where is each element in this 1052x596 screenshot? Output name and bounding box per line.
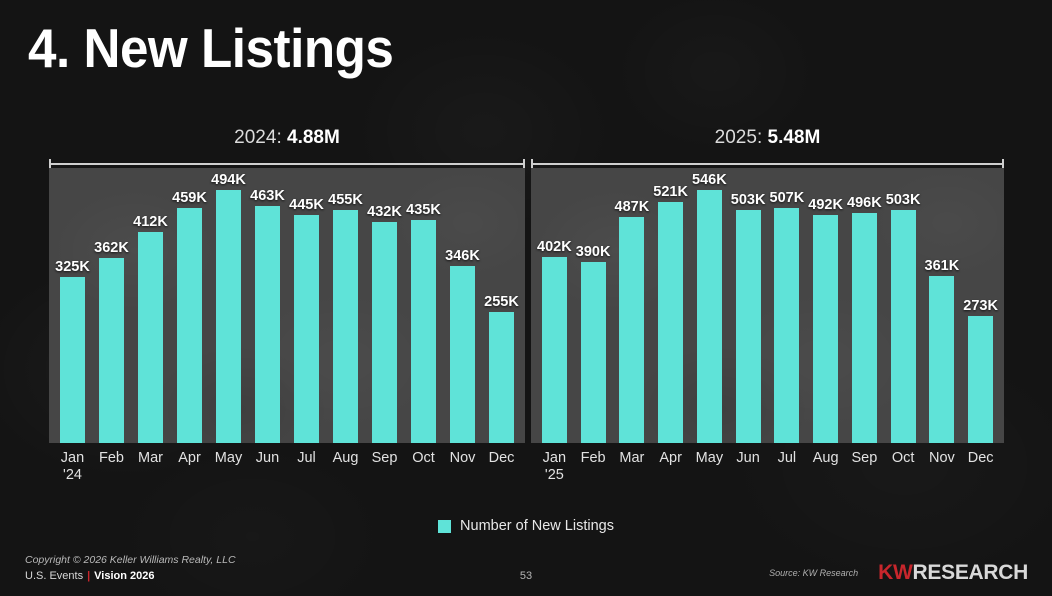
bar[interactable] [372, 222, 397, 443]
bar[interactable] [177, 208, 202, 443]
footer-right: Source: KW Research KWRESEARCH [769, 562, 1028, 583]
plot-area-2024: 325K362K412K459K494K463K445K455K432K435K… [49, 168, 525, 443]
bar-slot: 362K [92, 168, 131, 443]
x-axis-tick-label: Nov [923, 450, 962, 484]
bar[interactable] [891, 210, 916, 443]
bar-value-label: 487K [615, 199, 650, 215]
x-axis-tick-label: Feb [574, 450, 613, 484]
bar-slot: 435K [404, 168, 443, 443]
x-axis-2025: Jan'25FebMarAprMayJunJulAugSepOctNovDec [531, 450, 1004, 484]
x-axis-tick-label: Aug [806, 450, 845, 484]
x-axis-tick-label: Mar [613, 450, 652, 484]
bar[interactable] [450, 266, 475, 443]
bar-value-label: 494K [211, 172, 246, 188]
x-axis-tick-label: Mar [131, 450, 170, 484]
bar-value-label: 361K [925, 258, 960, 274]
bar-value-label: 325K [55, 259, 90, 275]
bar-slot: 492K [806, 168, 845, 443]
bar-value-label: 503K [731, 192, 766, 208]
x-axis-tick-label: Sep [845, 450, 884, 484]
chart-title-year-2025: 2025: [715, 127, 763, 148]
chart-title-total-2024: 4.88M [287, 127, 340, 148]
bar-slot: 412K [131, 168, 170, 443]
x-axis-tick-label: Nov [443, 450, 482, 484]
bar-value-label: 492K [808, 197, 843, 213]
bar[interactable] [542, 257, 567, 443]
bar-value-label: 432K [367, 204, 402, 220]
chart-title-total-2025: 5.48M [768, 127, 821, 148]
x-axis-tick-label: May [690, 450, 729, 484]
bar-value-label: 435K [406, 202, 441, 218]
x-axis-year-sublabel: '25 [535, 467, 574, 484]
x-axis-tick-label: Apr [170, 450, 209, 484]
bar-value-label: 273K [963, 298, 998, 314]
bar[interactable] [489, 312, 514, 443]
bar[interactable] [333, 210, 358, 443]
logo-kw-text: KW [878, 561, 912, 584]
bar[interactable] [294, 215, 319, 443]
page-title: 4. New Listings [28, 21, 393, 76]
bar-value-label: 390K [576, 244, 611, 260]
bar[interactable] [774, 208, 799, 443]
x-axis-tick-label: Apr [651, 450, 690, 484]
bar-slot: 496K [845, 168, 884, 443]
bar-slot: 325K [53, 168, 92, 443]
bar-value-label: 521K [653, 184, 688, 200]
bar-slot: 507K [768, 168, 807, 443]
bar-slot: 503K [884, 168, 923, 443]
bar-slot: 463K [248, 168, 287, 443]
x-axis-tick-label: Oct [404, 450, 443, 484]
legend-swatch-icon [438, 520, 451, 533]
copyright-text: Copyright © 2026 Keller Williams Realty,… [25, 553, 236, 568]
x-axis-tick-label: Aug [326, 450, 365, 484]
bar-slot: 546K [690, 168, 729, 443]
bar-slot: 494K [209, 168, 248, 443]
bar-value-label: 503K [886, 192, 921, 208]
chart-title-year-2024: 2024: [234, 127, 282, 148]
plot-area-2025: 402K390K487K521K546K503K507K492K496K503K… [531, 168, 1004, 443]
top-rule-line [531, 163, 1004, 165]
logo-research-text: RESEARCH [913, 561, 1028, 584]
legend-label: Number of New Listings [460, 518, 614, 534]
bar-chart-2025: 402K390K487K521K546K503K507K492K496K503K… [531, 159, 1004, 484]
bar-value-label: 402K [537, 239, 572, 255]
bar[interactable] [255, 206, 280, 443]
bar[interactable] [736, 210, 761, 443]
bar-slot: 255K [482, 168, 521, 443]
x-axis-tick-label: Oct [884, 450, 923, 484]
bar-slot: 432K [365, 168, 404, 443]
bar-value-label: 463K [250, 188, 285, 204]
bar-value-label: 459K [172, 190, 207, 206]
bar-value-label: 455K [328, 192, 363, 208]
bar[interactable] [852, 213, 877, 443]
bar-value-label: 412K [133, 214, 168, 230]
chart-title-2024: 2024: 4.88M [49, 127, 525, 149]
bar[interactable] [697, 190, 722, 443]
x-axis-tick-label: Jan'24 [53, 450, 92, 484]
bar[interactable] [968, 316, 993, 443]
x-axis-2024: Jan'24FebMarAprMayJunJulAugSepOctNovDec [49, 450, 525, 484]
bar[interactable] [216, 190, 241, 443]
bar[interactable] [411, 220, 436, 443]
bar-value-label: 507K [770, 190, 805, 206]
chart-legend: Number of New Listings [0, 518, 1052, 534]
top-rule-line [49, 163, 525, 165]
bar-value-label: 546K [692, 172, 727, 188]
x-axis-tick-label: Jun [248, 450, 287, 484]
bar-slot: 361K [923, 168, 962, 443]
x-axis-year-sublabel: '24 [53, 467, 92, 484]
x-axis-tick-label: Dec [961, 450, 1000, 484]
bar-slot: 521K [651, 168, 690, 443]
x-axis-tick-label: May [209, 450, 248, 484]
bar-value-label: 362K [94, 240, 129, 256]
bar[interactable] [929, 276, 954, 443]
bar[interactable] [99, 258, 124, 443]
bar[interactable] [581, 262, 606, 443]
x-axis-tick-label: Sep [365, 450, 404, 484]
bar-chart-2024: 325K362K412K459K494K463K445K455K432K435K… [49, 159, 525, 484]
bar[interactable] [658, 202, 683, 443]
x-axis-tick-label: Jul [287, 450, 326, 484]
chart-top-rule-2024 [49, 159, 525, 168]
bar-slot: 503K [729, 168, 768, 443]
chart-title-2025: 2025: 5.48M [531, 127, 1004, 149]
bar-slot: 402K [535, 168, 574, 443]
chart-top-rule-2025 [531, 159, 1004, 168]
bar-slot: 273K [961, 168, 1000, 443]
x-axis-tick-label: Jan'25 [535, 450, 574, 484]
source-note: Source: KW Research [769, 568, 858, 578]
bar-slot: 346K [443, 168, 482, 443]
bar-value-label: 346K [445, 248, 480, 264]
bar[interactable] [619, 217, 644, 443]
bar-value-label: 496K [847, 195, 882, 211]
bar-value-label: 445K [289, 197, 324, 213]
bar-slot: 445K [287, 168, 326, 443]
bar[interactable] [813, 215, 838, 443]
bar-slot: 455K [326, 168, 365, 443]
x-axis-tick-label: Dec [482, 450, 521, 484]
bar-slot: 459K [170, 168, 209, 443]
x-axis-tick-label: Feb [92, 450, 131, 484]
kw-research-logo: KWRESEARCH [878, 562, 1028, 583]
bar-slot: 390K [574, 168, 613, 443]
x-axis-tick-label: Jun [729, 450, 768, 484]
bar[interactable] [60, 277, 85, 443]
x-axis-tick-label: Jul [768, 450, 807, 484]
bar[interactable] [138, 232, 163, 443]
bar-slot: 487K [613, 168, 652, 443]
bar-value-label: 255K [484, 294, 519, 310]
